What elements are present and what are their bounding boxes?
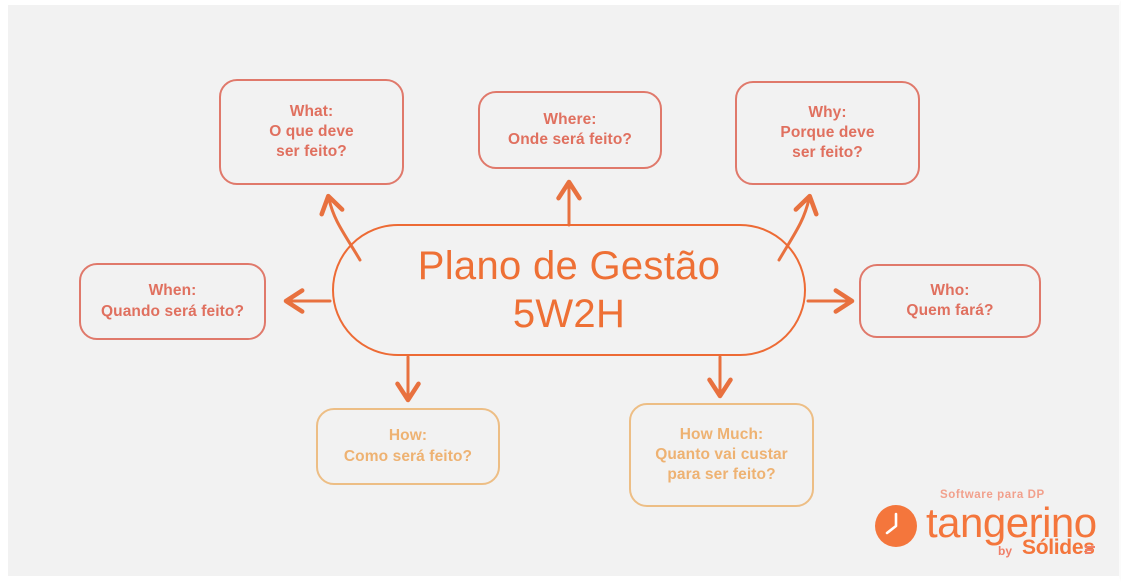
node-where-label: Where: Onde será feito? bbox=[508, 110, 632, 150]
node-what-label: What: O que deve ser feito? bbox=[269, 102, 354, 162]
node-why-label: Why: Porque deve ser feito? bbox=[780, 103, 874, 163]
node-when: When: Quando será feito? bbox=[79, 263, 266, 340]
node-who-label: Who: Quem fará? bbox=[906, 281, 993, 321]
center-node-label: Plano de Gestão 5W2H bbox=[418, 242, 721, 338]
logo-by-label: by bbox=[998, 544, 1012, 558]
center-node: Plano de Gestão 5W2H bbox=[332, 224, 806, 356]
tangerino-logo: Software para DP tangerino by Sólides bbox=[870, 488, 1102, 568]
infographic-canvas: Plano de Gestão 5W2H What: O que deve se… bbox=[0, 0, 1121, 582]
node-where: Where: Onde será feito? bbox=[478, 91, 662, 169]
node-what: What: O que deve ser feito? bbox=[219, 79, 404, 185]
node-how-much-label: How Much: Quanto vai custar para ser fei… bbox=[655, 425, 788, 485]
node-who: Who: Quem fará? bbox=[859, 264, 1041, 338]
solides-bars-icon bbox=[1085, 546, 1095, 555]
node-how-label: How: Como será feito? bbox=[344, 426, 472, 466]
node-why: Why: Porque deve ser feito? bbox=[735, 81, 920, 185]
node-how-much: How Much: Quanto vai custar para ser fei… bbox=[629, 403, 814, 507]
node-how: How: Como será feito? bbox=[316, 408, 500, 485]
node-when-label: When: Quando será feito? bbox=[101, 281, 244, 321]
logo-parent-brand: Sólides bbox=[1022, 536, 1095, 560]
clock-icon bbox=[874, 504, 918, 548]
